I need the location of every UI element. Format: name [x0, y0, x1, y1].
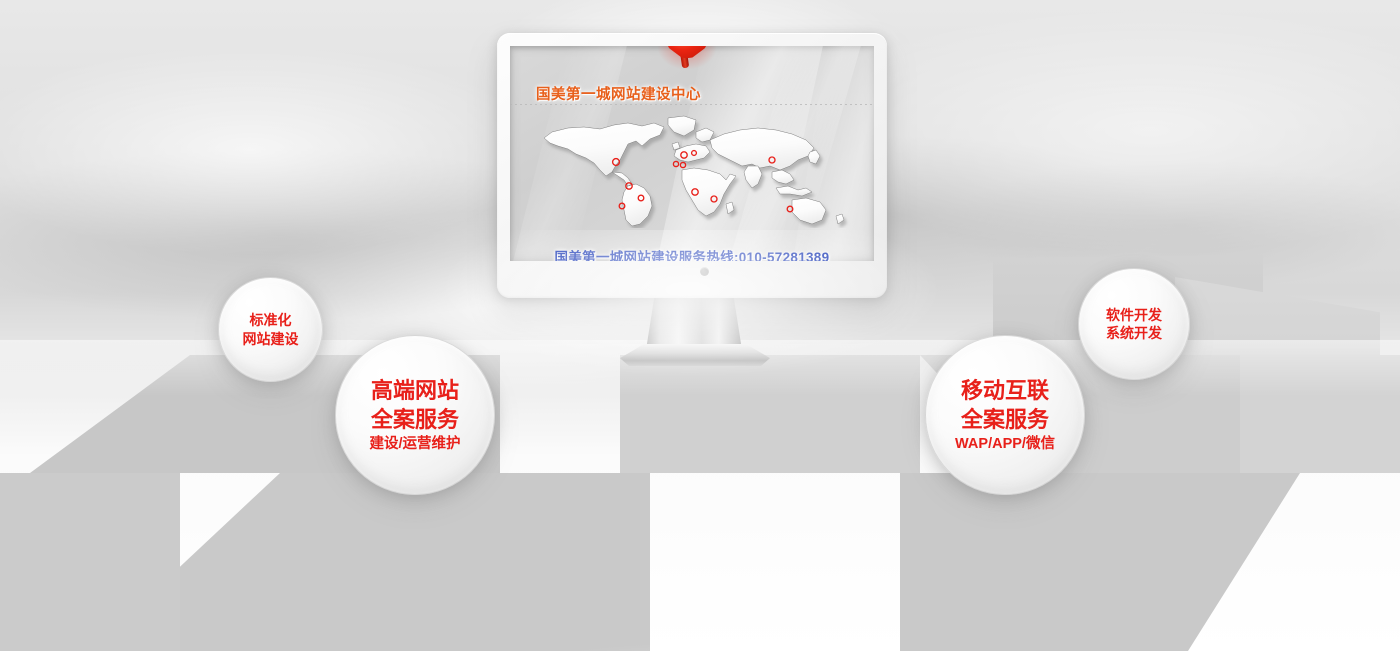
bubble-line: 软件开发 — [1106, 306, 1162, 324]
banner-stage: 国美第一城网站建设中心 — [0, 0, 1400, 651]
bubble-standard-website[interactable]: 标准化 网站建设 — [218, 277, 323, 382]
bubble-line: 高端网站 — [371, 376, 459, 405]
bubble-high-end-website[interactable]: 高端网站 全案服务 建设/运营维护 — [335, 335, 495, 495]
floor-tile — [1240, 355, 1400, 473]
bubble-line: 标准化 — [250, 311, 292, 329]
bubble-line: 建设/运营维护 — [369, 435, 460, 454]
bubble-mobile-internet[interactable]: 移动互联 全案服务 WAP/APP/微信 — [925, 335, 1085, 495]
floor-tile — [620, 355, 920, 473]
map-pin-icon — [667, 46, 707, 68]
bubble-line: 全案服务 — [961, 405, 1049, 434]
monitor-screen[interactable]: 国美第一城网站建设中心 — [510, 46, 874, 261]
bubble-software-development[interactable]: 软件开发 系统开发 — [1078, 268, 1190, 380]
bubble-line: WAP/APP/微信 — [955, 435, 1055, 454]
bubble-line: 移动互联 — [961, 376, 1049, 405]
monitor-chin — [510, 261, 874, 285]
bubble-line: 系统开发 — [1106, 324, 1162, 342]
monitor-stand-base — [620, 344, 770, 366]
screen-hotline-text: 国美第一城网站建设服务热线:010-57281389 — [510, 246, 874, 261]
bubble-line: 网站建设 — [243, 330, 299, 348]
bubble-line: 全案服务 — [371, 405, 459, 434]
screen-title: 国美第一城网站建设中心 — [536, 83, 701, 104]
floor-tile — [0, 473, 180, 651]
monitor-stand-neck — [646, 295, 742, 350]
desktop-monitor[interactable]: 国美第一城网站建设中心 — [497, 33, 887, 298]
dotted-divider — [510, 104, 874, 105]
world-map — [524, 108, 864, 228]
status-dot-icon — [700, 267, 709, 276]
